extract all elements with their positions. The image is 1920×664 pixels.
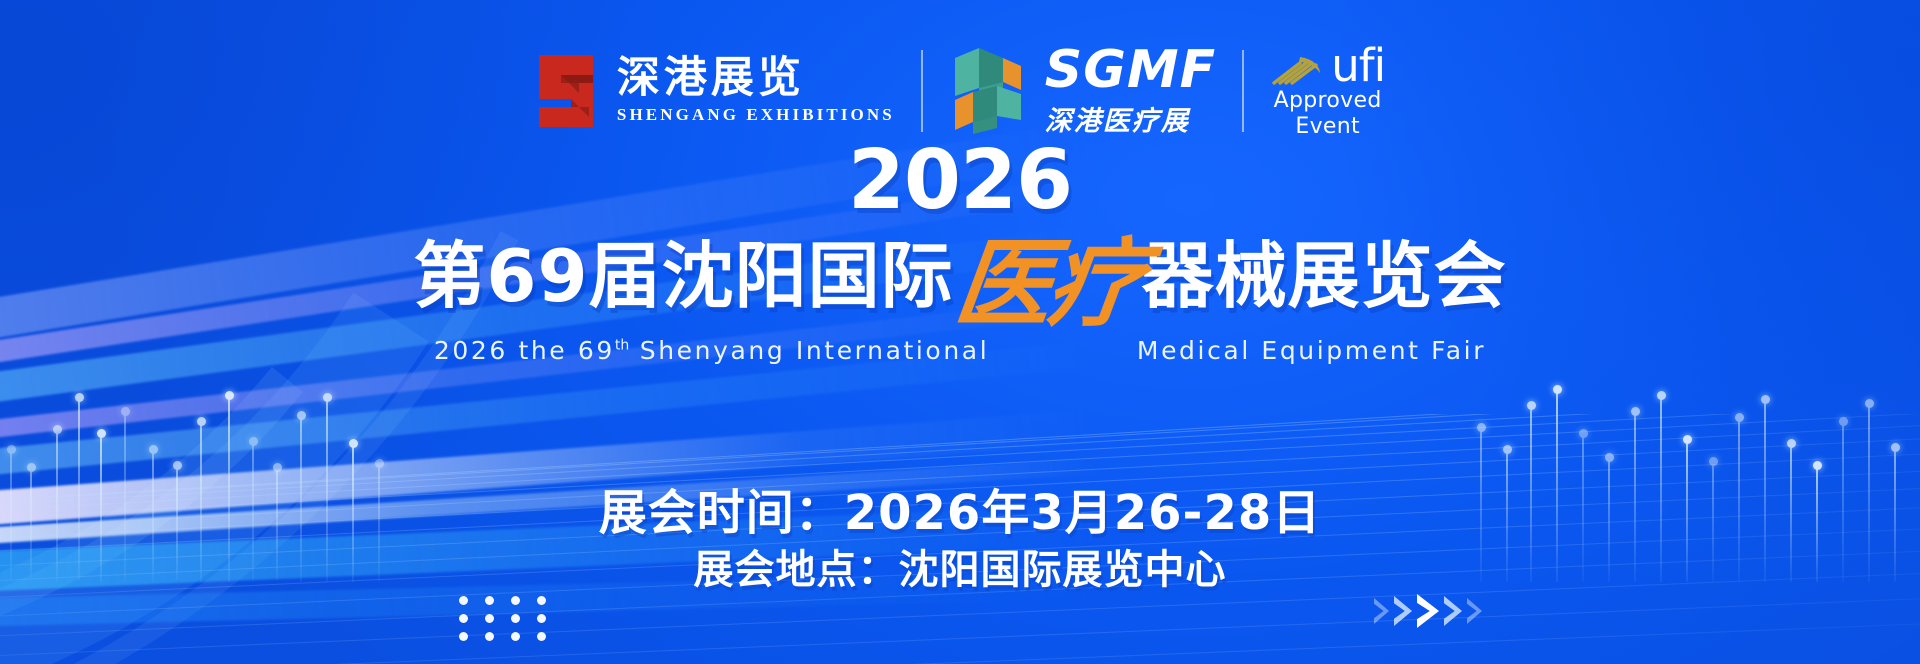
- title-highlight-medical: 医疗: [950, 236, 1146, 332]
- subtitle-pre: 2026 the 69: [434, 336, 615, 365]
- shengang-en-name: SHENGANG EXHIBITIONS: [617, 105, 895, 125]
- grid-dot: [485, 596, 494, 605]
- ufi-approved-event-logo[interactable]: ufi Approved Event: [1270, 42, 1385, 139]
- subtitle-ordinal: th: [615, 338, 629, 354]
- chevron-mid-2: [1444, 596, 1462, 626]
- grid-dot: [459, 632, 468, 641]
- sgmf-logo[interactable]: SGMF 深港医疗展: [949, 42, 1216, 139]
- exhibition-banner: 深港展览 SHENGANG EXHIBITIONS: [0, 0, 1920, 664]
- grid-dot: [537, 632, 546, 641]
- grid-dot: [485, 632, 494, 641]
- chevron-outline-2: [1467, 598, 1482, 624]
- sgmf-mark-icon: [949, 42, 1027, 139]
- shengang-text: 深港展览 SHENGANG EXHIBITIONS: [617, 56, 895, 124]
- subtitle-post: Medical Equipment Fair: [1137, 336, 1486, 365]
- chevron-solid: [1417, 594, 1439, 628]
- chevron-outline-1: [1374, 598, 1389, 624]
- logo-divider-1: [921, 50, 923, 132]
- dot-grid-decoration: [459, 596, 550, 641]
- event-title: 第69届沈阳国际 医疗 器械展览会: [0, 228, 1920, 324]
- grid-dot: [511, 596, 520, 605]
- event-date: 展会时间：2026年3月26-28日: [0, 473, 1920, 543]
- event-venue: 展会地点：沈阳国际展览中心: [0, 537, 1920, 595]
- chevron-mid-1: [1394, 596, 1412, 626]
- grid-dot: [459, 614, 468, 623]
- grid-dot: [459, 596, 468, 605]
- logo-divider-2: [1242, 50, 1244, 132]
- ufi-wordmark: ufi: [1331, 46, 1385, 87]
- ufi-wing-icon: [1270, 53, 1324, 87]
- subtitle-spacer: [989, 336, 1137, 365]
- logo-strip: 深港展览 SHENGANG EXHIBITIONS: [0, 42, 1920, 139]
- headline-block: 2026 第69届沈阳国际 医疗 器械展览会 2026 the 69th She…: [0, 140, 1920, 365]
- shengang-s-mark-icon: [535, 49, 597, 133]
- ufi-event-label: Event: [1295, 114, 1360, 139]
- sgmf-text: SGMF 深港医疗展: [1045, 44, 1216, 138]
- shengang-cn-name: 深港展览: [617, 56, 805, 101]
- grid-dot: [485, 614, 494, 623]
- grid-dot: [537, 596, 546, 605]
- subtitle-mid: Shenyang International: [629, 336, 989, 365]
- event-subtitle-en: 2026 the 69th Shenyang International Med…: [0, 336, 1920, 365]
- grid-dot: [537, 614, 546, 623]
- event-year: 2026: [0, 140, 1920, 222]
- title-part-2: 器械展览会: [1142, 240, 1507, 312]
- title-part-1: 第69届沈阳国际: [413, 240, 953, 312]
- ufi-top-row: ufi: [1270, 46, 1385, 87]
- sgmf-en-name: SGMF: [1045, 44, 1216, 96]
- chevron-decoration: [1374, 594, 1482, 628]
- ufi-approved-label: Approved: [1274, 88, 1382, 113]
- grid-dot: [511, 614, 520, 623]
- sgmf-cn-name: 深港医疗展: [1045, 99, 1190, 138]
- grid-dot: [511, 632, 520, 641]
- shengang-logo[interactable]: 深港展览 SHENGANG EXHIBITIONS: [535, 49, 895, 133]
